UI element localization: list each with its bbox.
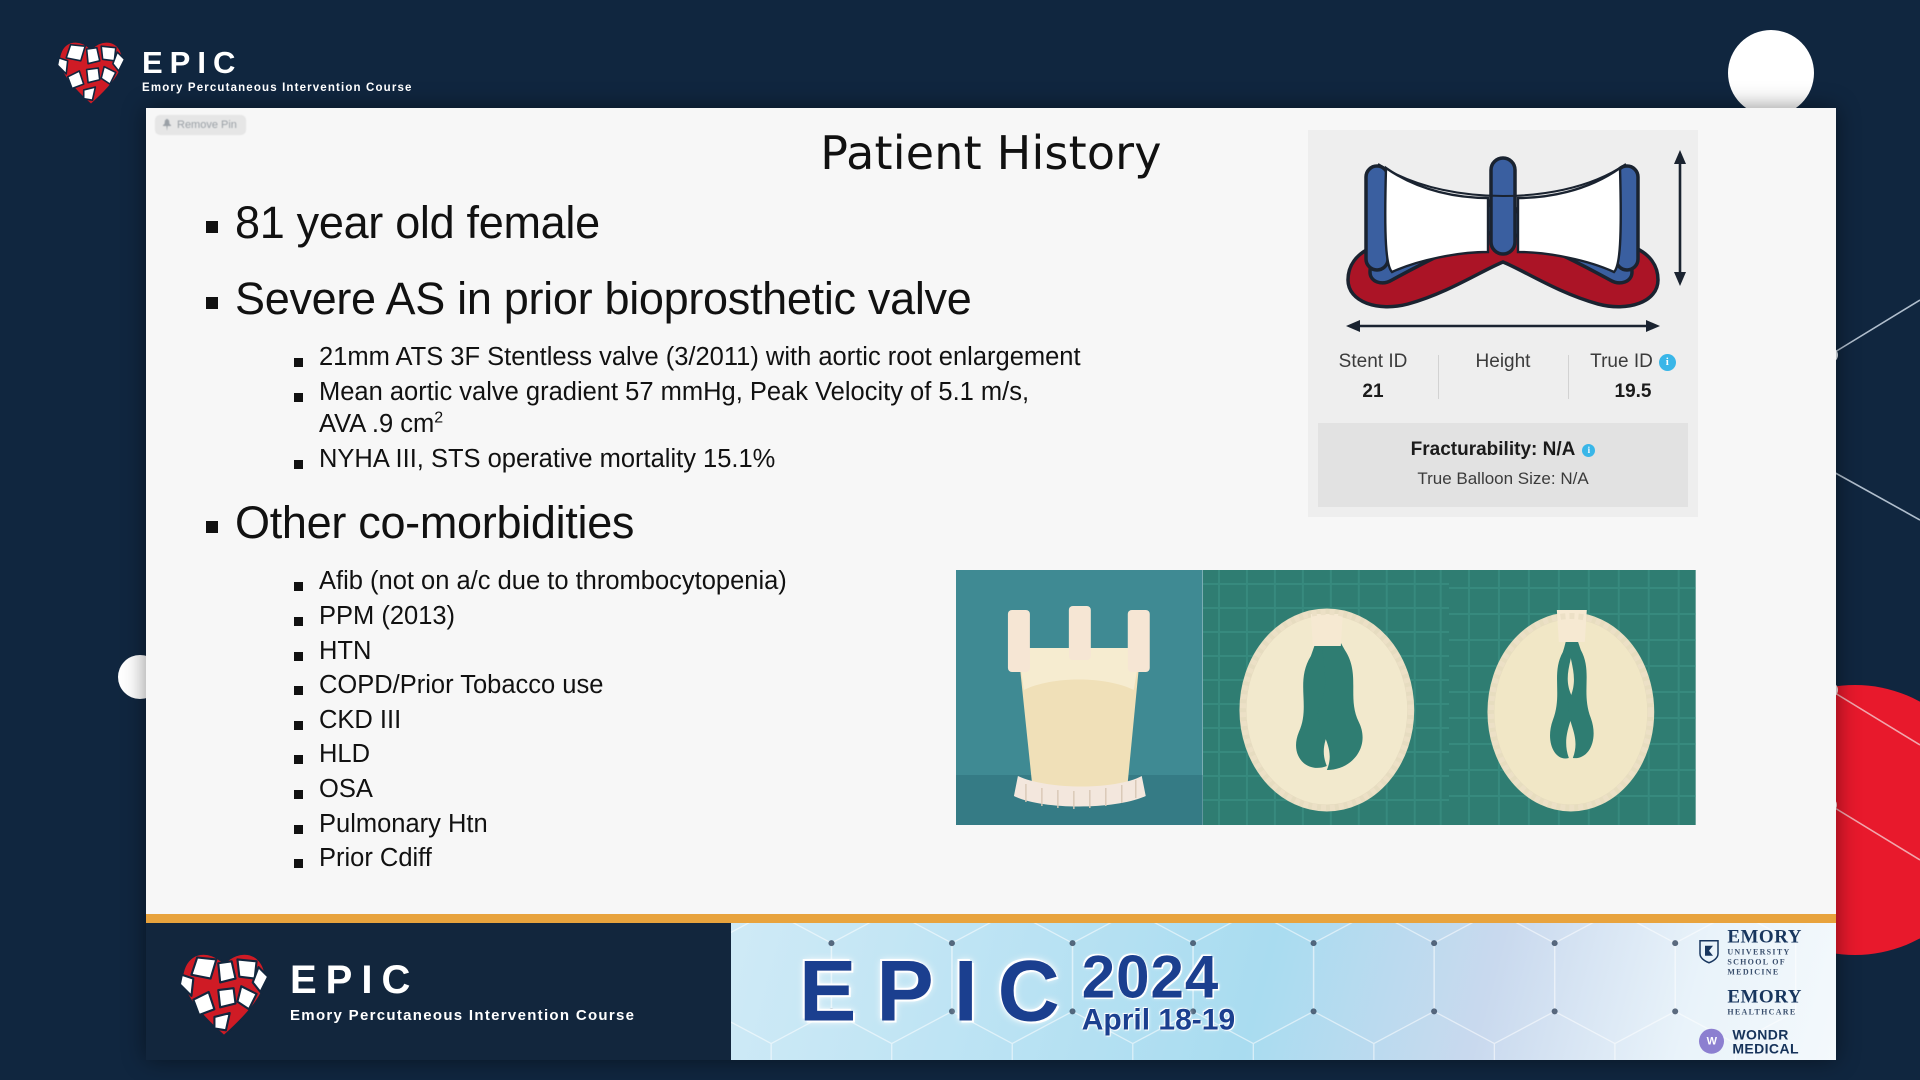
sub-bullet: Prior Cdiff — [294, 842, 1216, 875]
footer-brand-subtitle: Emory Percutaneous Intervention Course — [290, 1007, 635, 1024]
logo-wondr-medical: W WONDR MEDICAL — [1699, 1027, 1799, 1056]
event-dates: April 18-19 — [1082, 1003, 1235, 1036]
info-icon[interactable]: i — [1582, 444, 1595, 457]
sub-bullet-text: CKD III — [319, 704, 401, 737]
metric-label: Stent ID — [1339, 351, 1408, 373]
metric-value — [1438, 381, 1568, 403]
bullet-square-icon — [294, 790, 303, 799]
sub-bullet-text: Pulmonary Htn — [319, 808, 488, 841]
valve-diagram — [1308, 130, 1698, 345]
sub-bullet-text: PPM (2013) — [319, 600, 455, 633]
sub-bullet-text: Prior Cdiff — [319, 842, 432, 875]
sub-bullet-text: Mean aortic valve gradient 57 mmHg, Peak… — [319, 376, 1029, 441]
footer-accent-rule — [146, 914, 1836, 923]
valve-photo-top-view-open — [1203, 570, 1450, 825]
sub-bullet-line1: Mean aortic valve gradient 57 mmHg, Peak… — [319, 378, 1029, 406]
remove-pin-label: Remove Pin — [177, 119, 237, 131]
metric-label: Height — [1476, 351, 1531, 373]
fracturability-panel: Fracturability: N/A i True Balloon Size:… — [1318, 423, 1688, 507]
bullet-square-icon — [206, 221, 218, 233]
metric-height: Height — [1438, 351, 1568, 403]
bullet-square-icon — [294, 686, 303, 695]
logo-line-3: SCHOOL OF — [1727, 958, 1802, 966]
bullet-square-icon — [294, 721, 303, 730]
logo-line-2: MEDICAL — [1732, 1042, 1799, 1056]
event-logo: EPIC 2024 April 18-19 — [799, 948, 1235, 1035]
sub-bullet: 21mm ATS 3F Stentless valve (3/2011) wit… — [294, 341, 1216, 374]
slide-container: Remove Pin Patient History 81 year old f… — [146, 108, 1836, 1060]
logo-line-2: UNIVERSITY — [1727, 948, 1802, 956]
brand-header: EPIC Emory Percutaneous Intervention Cou… — [54, 36, 413, 106]
metric-value: 21 — [1308, 381, 1438, 403]
sub-bullet-superscript: 2 — [434, 410, 443, 427]
sub-bullet-line2: AVA .9 cm — [319, 410, 434, 438]
logo-line-2: HEALTHCARE — [1727, 1008, 1802, 1016]
bullet-square-icon — [294, 859, 303, 868]
partner-logos: EMORY UNIVERSITY SCHOOL OF MEDICINE EMOR… — [1699, 927, 1802, 1056]
footer-brand: EPIC Emory Percutaneous Intervention Cou… — [146, 923, 731, 1060]
slide-body: Patient History 81 year old female Sever… — [146, 108, 1836, 914]
bioprosthetic-valve-diagram-icon — [1308, 130, 1698, 345]
metric-value: 19.5 — [1568, 381, 1698, 403]
bullet-square-icon — [294, 652, 303, 661]
logo-emory-school-of-medicine: EMORY UNIVERSITY SCHOOL OF MEDICINE — [1699, 927, 1802, 976]
event-year: 2024 — [1082, 943, 1219, 1010]
valve-info-card: Stent ID 21 Height True ID i 19.5 — [1308, 130, 1698, 517]
sub-bullet-text: HTN — [319, 635, 371, 668]
sub-bullet-text: COPD/Prior Tobacco use — [319, 669, 603, 702]
sub-bullet-text: Afib (not on a/c due to thrombocytopenia… — [319, 565, 787, 598]
bullet-square-icon — [294, 582, 303, 591]
logo-line-1: WONDR — [1732, 1027, 1799, 1041]
vertical-dimension-arrow-icon — [1674, 150, 1686, 286]
bullet-square-icon — [294, 755, 303, 764]
valve-photo-strip — [956, 570, 1696, 825]
logo-line-1: EMORY — [1727, 927, 1802, 946]
metric-label: True ID — [1590, 351, 1653, 373]
bullet-square-icon — [206, 297, 218, 309]
brand-title: EPIC — [142, 47, 413, 78]
epic-heart-logo-icon — [176, 946, 272, 1038]
sub-bullet-text: NYHA III, STS operative mortality 15.1% — [319, 443, 775, 476]
event-name: EPIC — [799, 949, 1080, 1035]
metric-true-id: True ID i 19.5 — [1568, 351, 1698, 403]
sub-bullet-text: OSA — [319, 773, 373, 806]
bullet-square-icon — [206, 521, 218, 533]
valve-metrics-row: Stent ID 21 Height True ID i 19.5 — [1308, 345, 1698, 417]
valve-photo-side-view — [956, 570, 1203, 825]
sub-bullet-text: 21mm ATS 3F Stentless valve (3/2011) wit… — [319, 341, 1081, 374]
logo-line-4: MEDICINE — [1727, 968, 1802, 976]
bullet-square-icon — [294, 460, 303, 469]
bullet-level1: Severe AS in prior bioprosthetic valve — [206, 270, 1216, 328]
horizontal-dimension-arrow-icon — [1346, 320, 1660, 332]
bullet-square-icon — [294, 393, 303, 402]
sub-bullet: NYHA III, STS operative mortality 15.1% — [294, 443, 1216, 476]
bullet-text: Other co-morbidities — [235, 494, 634, 552]
info-icon[interactable]: i — [1659, 354, 1676, 371]
bullet-text: Severe AS in prior bioprosthetic valve — [235, 270, 971, 328]
sub-bullet-text: HLD — [319, 738, 370, 771]
footer-event-banner: EPIC 2024 April 18-19 EMORY UNIVERSITY S… — [731, 923, 1836, 1060]
pin-icon — [162, 119, 172, 131]
emory-shield-icon — [1699, 940, 1719, 964]
footer-brand-title: EPIC — [290, 960, 635, 1000]
remove-pin-button[interactable]: Remove Pin — [155, 115, 246, 135]
logo-emory-healthcare: EMORY HEALTHCARE — [1699, 987, 1802, 1016]
wondr-mark-icon: W — [1699, 1029, 1724, 1054]
valve-photo-top-view-closed — [1449, 570, 1696, 825]
sub-bullet: Mean aortic valve gradient 57 mmHg, Peak… — [294, 376, 1216, 441]
true-balloon-size-label: True Balloon Size: N/A — [1318, 469, 1688, 489]
bullet-level1: Other co-morbidities — [206, 494, 1216, 552]
logo-line-1: EMORY — [1727, 987, 1802, 1006]
bullet-level1: 81 year old female — [206, 194, 1216, 252]
epic-heart-logo-icon — [54, 36, 128, 106]
bullet-square-icon — [294, 825, 303, 834]
brand-subtitle: Emory Percutaneous Intervention Course — [142, 83, 413, 95]
bullet-square-icon — [294, 617, 303, 626]
bullet-square-icon — [294, 358, 303, 367]
footer-banner: EPIC Emory Percutaneous Intervention Cou… — [146, 914, 1836, 1060]
bullet-text: 81 year old female — [235, 194, 600, 252]
fracturability-label: Fracturability: N/A — [1411, 439, 1576, 461]
metric-stent-id: Stent ID 21 — [1308, 351, 1438, 403]
